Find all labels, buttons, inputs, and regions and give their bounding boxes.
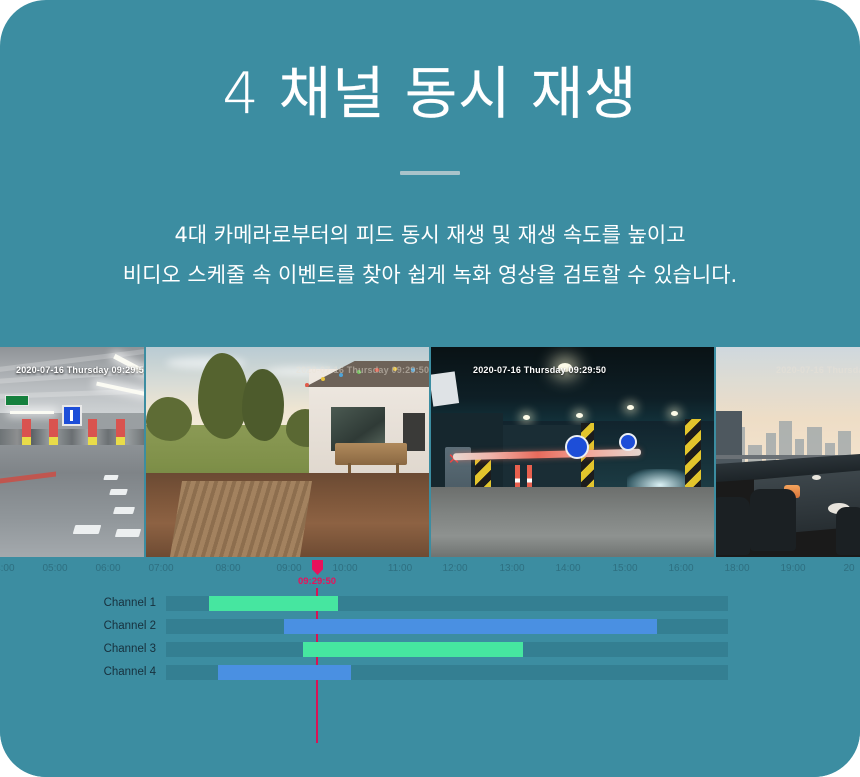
recording-segment[interactable] [209,596,338,611]
time-ruler[interactable]: 04:0005:0006:0007:0008:0009:0010:0011:00… [0,557,860,583]
video-timestamp: 2020-07-16 Thursday 09:29:50 [296,365,429,376]
channel-label: Channel 4 [76,665,156,680]
time-tick-label: 10:00 [332,563,357,575]
chair [750,489,796,551]
patio-table [335,443,407,465]
subtitle-line-1: 4대 카메라로부터의 피드 동시 재생 및 재생 속도를 높이고 [0,222,860,248]
recording-segment[interactable] [303,642,523,657]
channel-label: Channel 3 [76,642,156,657]
video-panel-1[interactable]: 2020-07-16 Thursday 09:29:50 [0,347,144,557]
chair [714,497,750,555]
direction-sign-icon [619,433,637,451]
tree [198,353,248,439]
ceiling-lamp [523,415,530,420]
time-tick-label: 11:00 [388,563,412,575]
video-panel-2[interactable]: 2020-07-16 Thursday 09:29:50 [144,347,429,557]
bulb [321,377,325,381]
header-section: 4 채널 동시 재생 4대 카메라로부터의 피드 동시 재생 및 재생 속도를 … [0,0,860,345]
time-tick-label: 16:00 [668,563,693,575]
lane-dash [113,507,135,514]
time-tick-label: 04:00 [0,563,15,575]
ceiling-light [10,411,54,414]
time-tick-label: 06:00 [95,563,120,575]
lane-dash [103,475,118,480]
recording-segment[interactable] [218,665,351,680]
bulb [305,383,309,387]
deck-planks [170,481,312,557]
channel-label: Channel 1 [76,596,156,611]
bush [146,397,192,441]
time-tick-label: 14:00 [555,563,580,575]
wall-panel-light [429,371,459,406]
channel-track-row[interactable]: Channel 4 [0,665,860,680]
time-tick-label: 05:00 [42,563,67,575]
garage-floor [0,445,144,557]
channel-track-row[interactable]: Channel 1 [0,596,860,611]
promo-page: 4 채널 동시 재생 4대 카메라로부터의 피드 동시 재생 및 재생 속도를 … [0,0,860,777]
video-panel-3[interactable]: ✕ 2020-07-16 Thursday 09:29:50 [429,347,714,557]
channel-track-row[interactable]: Channel 2 [0,619,860,634]
timeline-section[interactable]: 04:0005:0006:0007:0008:0009:0010:0011:00… [0,557,860,777]
plate [812,475,821,480]
channel-label: Channel 2 [76,619,156,634]
time-tick-label: 07:00 [148,563,173,575]
video-timestamp: 2020-07-16 Thursday 09:29:50 [473,365,606,376]
title-divider [400,171,460,175]
time-tick-label: 08:00 [215,563,240,575]
info-sign-icon [62,405,82,426]
garage-ceiling [431,347,714,421]
time-tick-label: 18:00 [724,563,749,575]
exit-sign-icon [5,395,29,406]
lane-dash [73,525,102,534]
time-tick-label: 20 [843,563,854,575]
ceiling-lamp [671,411,678,416]
lane-dash [115,529,141,537]
video-wall: 2020-07-16 Thursday 09:29:50 [0,347,860,557]
lane-dash [109,489,128,495]
chair [836,507,860,555]
no-entry-sign-icon [565,435,589,459]
time-tick-label: 12:00 [442,563,467,575]
page-title: 4 채널 동시 재생 [0,62,860,126]
video-timestamp: 2020-07-16 Thursday 09:29:50 [16,365,144,376]
video-panel-4[interactable]: 2020-07-16 Thursday 09:29:50 [714,347,860,557]
playhead-time-label: 09:29:50 [298,576,336,587]
time-tick-label: 09:00 [276,563,301,575]
ceiling-lamp [576,413,583,418]
garage-floor [431,487,714,557]
tree [242,369,284,441]
time-tick-label: 13:00 [499,563,524,575]
subtitle-line-2: 비디오 스케줄 속 이벤트를 찾아 쉽게 녹화 영상을 검토할 수 있습니다. [0,262,860,288]
time-tick-label: 15:00 [612,563,637,575]
channel-track-row[interactable]: Channel 3 [0,642,860,657]
video-timestamp: 2020-07-16 Thursday 09:29:50 [776,365,860,376]
time-tick-label: 19:00 [780,563,805,575]
ceiling-lamp [627,405,634,410]
recording-segment[interactable] [284,619,657,634]
